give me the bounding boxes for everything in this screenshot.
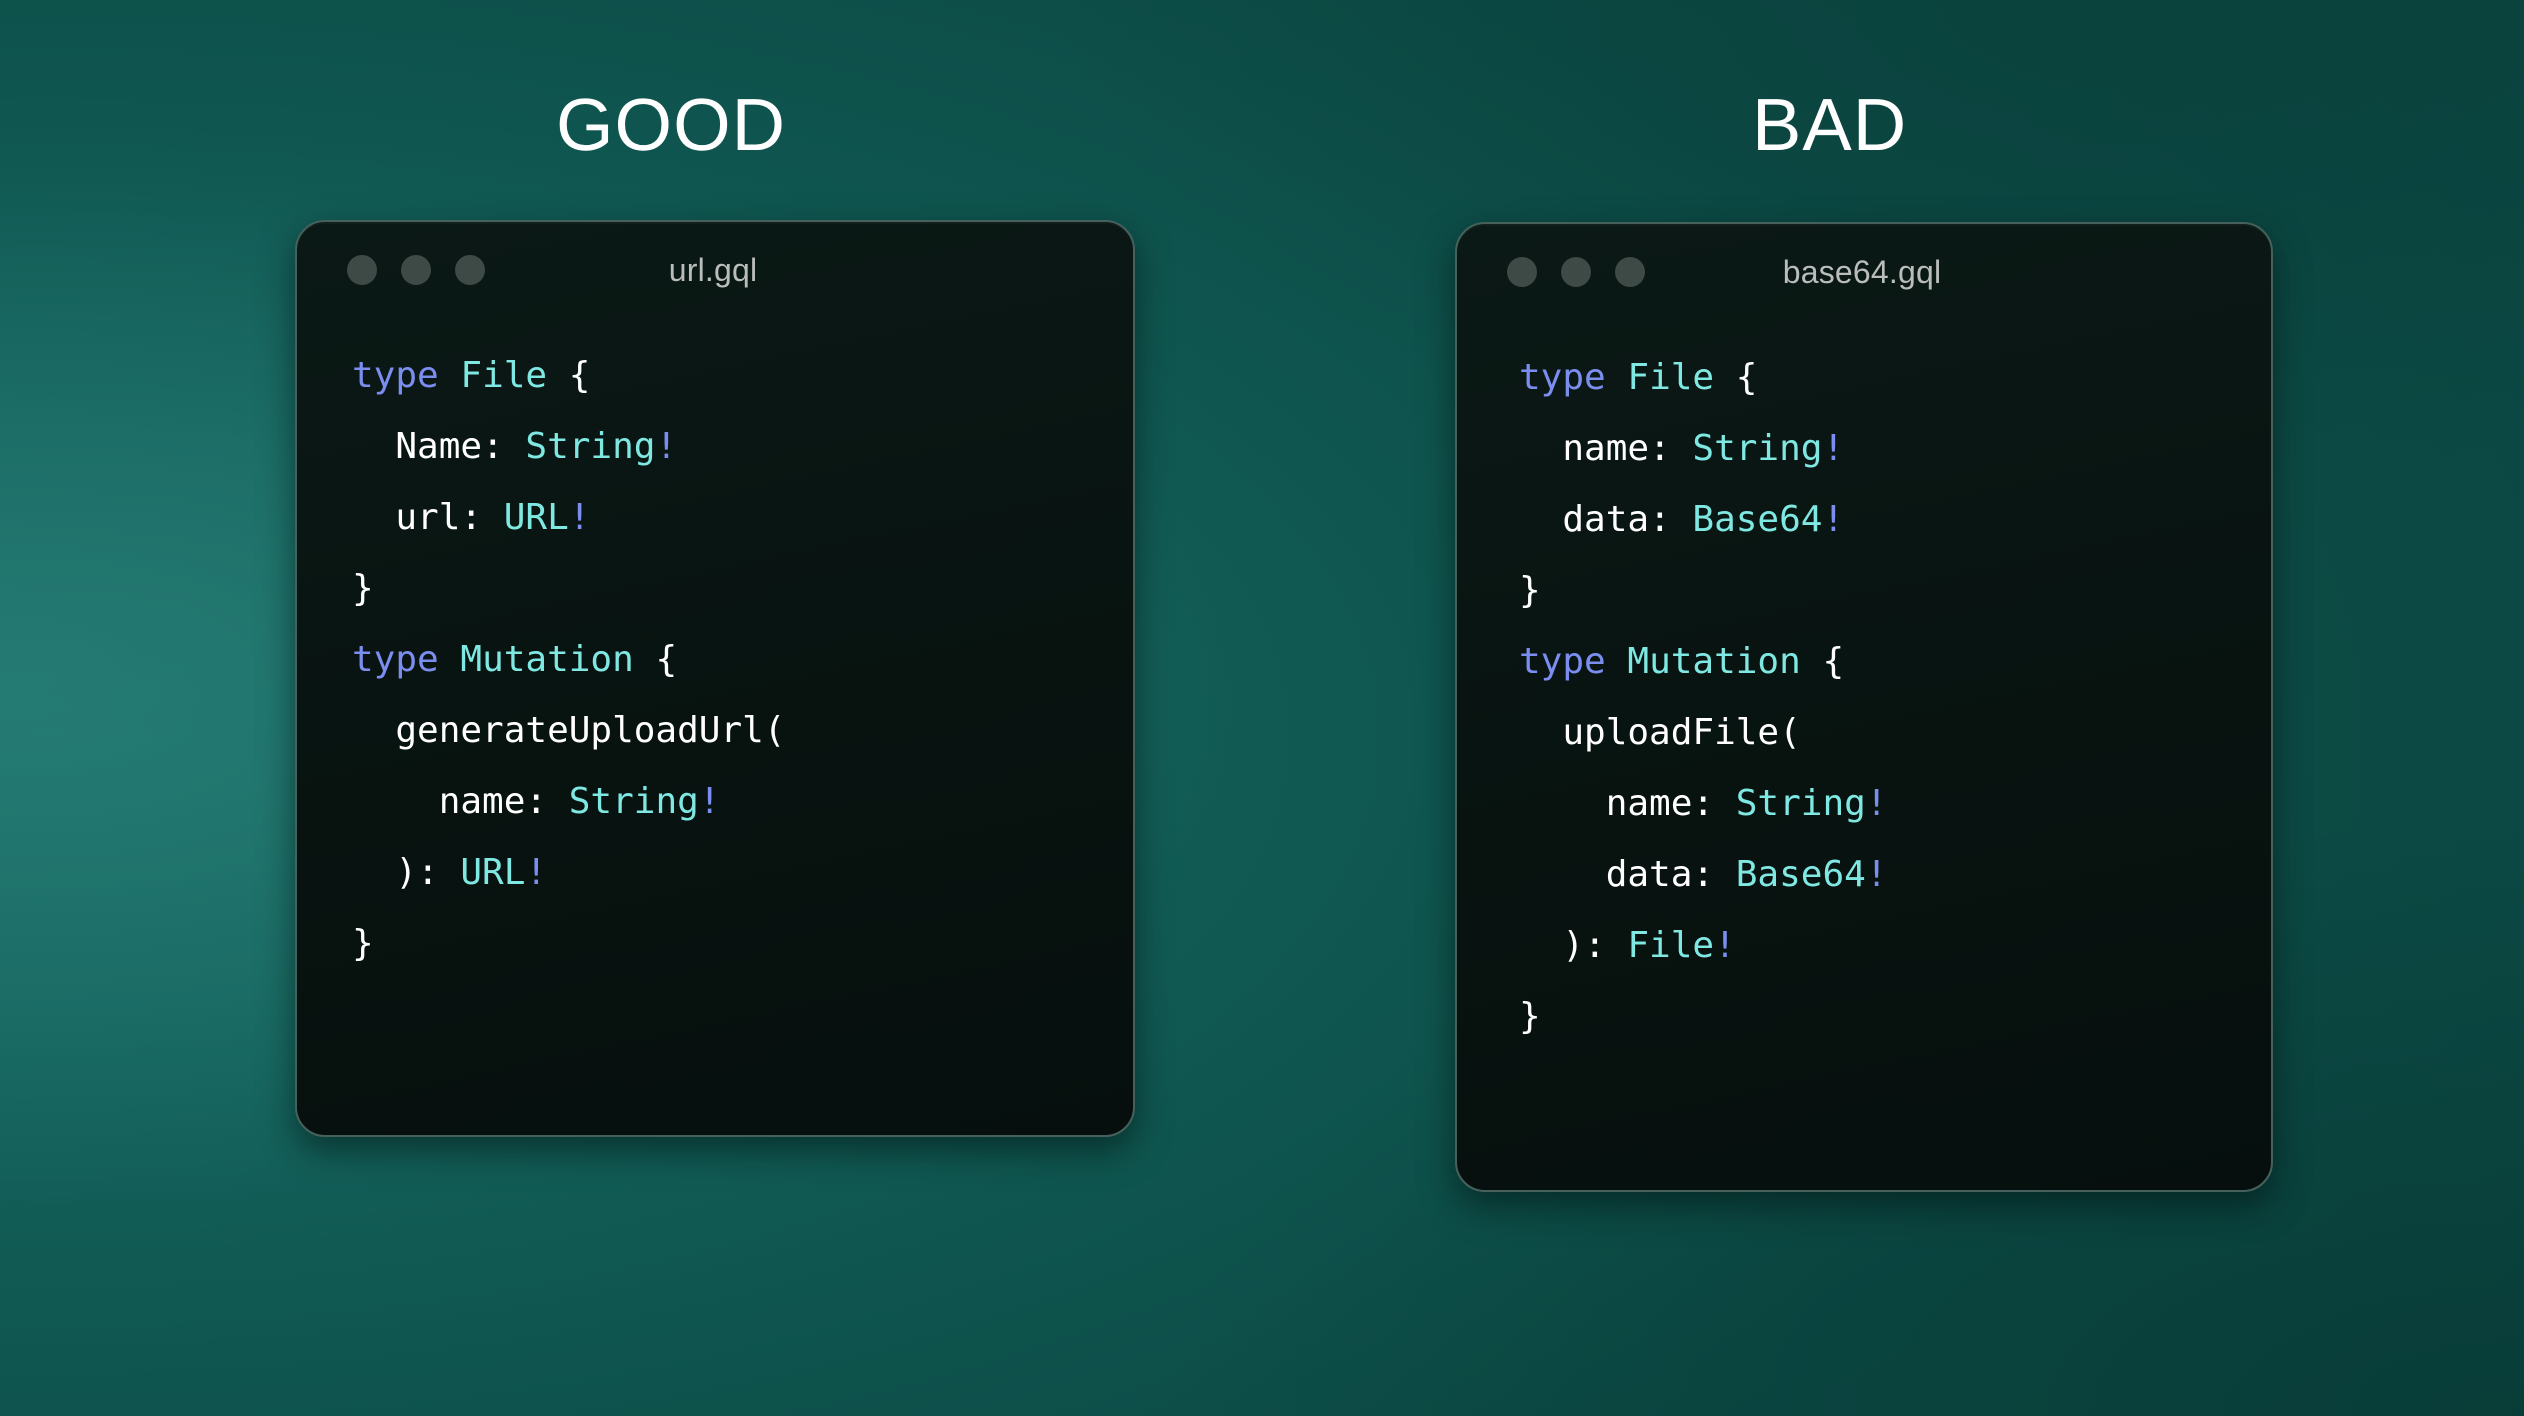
code-line: } [352,553,1133,624]
code-token-kw: type [1519,357,1606,398]
code-token-plain: { [1801,641,1844,682]
code-line: ): File! [1519,910,2271,981]
code-token-plain: { [1714,357,1757,398]
code-token-kw: type [352,639,439,680]
code-token-plain: name: [352,781,569,822]
code-token-plain [1606,641,1628,682]
code-token-type: Mutation [1627,641,1800,682]
code-token-plain: ): [1519,925,1627,966]
code-token-bang: ! [655,426,677,467]
code-token-bang: ! [1822,499,1844,540]
code-token-type: URL [460,852,525,893]
code-line: name: String! [1519,413,2271,484]
code-line: type File { [352,340,1133,411]
code-token-plain: } [1519,996,1541,1037]
code-token-bang: ! [1714,925,1736,966]
code-token-type: Mutation [460,639,633,680]
code-token-plain: name: [1519,783,1736,824]
code-line: } [1519,555,2271,626]
minimize-dot-icon[interactable] [401,255,431,285]
code-block-bad: type File { name: String! data: Base64!}… [1457,320,2271,1052]
code-token-type: String [1692,428,1822,469]
code-token-plain: Name: [352,426,525,467]
code-token-plain [439,639,461,680]
code-token-plain: } [352,923,374,964]
maximize-dot-icon[interactable] [455,255,485,285]
code-line: } [352,908,1133,979]
code-token-type: String [525,426,655,467]
code-line: data: Base64! [1519,484,2271,555]
code-token-type: URL [504,497,569,538]
titlebar-good: url.gql [297,222,1133,318]
traffic-lights-good [347,255,485,285]
code-line: name: String! [352,766,1133,837]
code-token-plain [1606,357,1628,398]
code-token-bang: ! [525,852,547,893]
code-line: Name: String! [352,411,1133,482]
code-token-plain: name: [1519,428,1692,469]
code-token-plain: { [547,355,590,396]
code-token-kw: type [352,355,439,396]
code-token-type: Base64 [1736,854,1866,895]
code-token-plain [439,355,461,396]
traffic-lights-bad [1507,257,1645,287]
code-token-type: Base64 [1692,499,1822,540]
code-window-bad: base64.gql type File { name: String! dat… [1455,222,2273,1192]
code-line: name: String! [1519,768,2271,839]
titlebar-bad: base64.gql [1457,224,2271,320]
code-token-bang: ! [1866,854,1888,895]
code-token-plain: generateUploadUrl( [352,710,785,751]
maximize-dot-icon[interactable] [1615,257,1645,287]
code-line: type File { [1519,342,2271,413]
code-line: } [1519,981,2271,1052]
code-token-plain: uploadFile( [1519,712,1801,753]
code-token-bang: ! [1866,783,1888,824]
code-token-plain: } [1519,570,1541,611]
code-line: uploadFile( [1519,697,2271,768]
code-token-bang: ! [569,497,591,538]
code-token-plain: } [352,568,374,609]
code-window-good: url.gql type File { Name: String! url: U… [295,220,1135,1137]
code-line: generateUploadUrl( [352,695,1133,766]
code-line: type Mutation { [1519,626,2271,697]
code-token-type: String [569,781,699,822]
close-dot-icon[interactable] [347,255,377,285]
code-token-type: File [460,355,547,396]
code-token-bang: ! [699,781,721,822]
code-token-kw: type [1519,641,1606,682]
code-line: url: URL! [352,482,1133,553]
code-token-plain: data: [1519,499,1692,540]
code-line: ): URL! [352,837,1133,908]
code-token-plain: { [634,639,677,680]
code-line: data: Base64! [1519,839,2271,910]
code-line: type Mutation { [352,624,1133,695]
code-token-type: String [1736,783,1866,824]
code-token-type: File [1627,925,1714,966]
code-token-plain: url: [352,497,504,538]
code-token-plain: data: [1519,854,1736,895]
code-token-plain: ): [352,852,460,893]
code-block-good: type File { Name: String! url: URL!}type… [297,318,1133,979]
close-dot-icon[interactable] [1507,257,1537,287]
code-token-type: File [1627,357,1714,398]
good-heading: GOOD [556,88,786,162]
minimize-dot-icon[interactable] [1561,257,1591,287]
code-token-bang: ! [1822,428,1844,469]
bad-heading: BAD [1752,88,1907,162]
